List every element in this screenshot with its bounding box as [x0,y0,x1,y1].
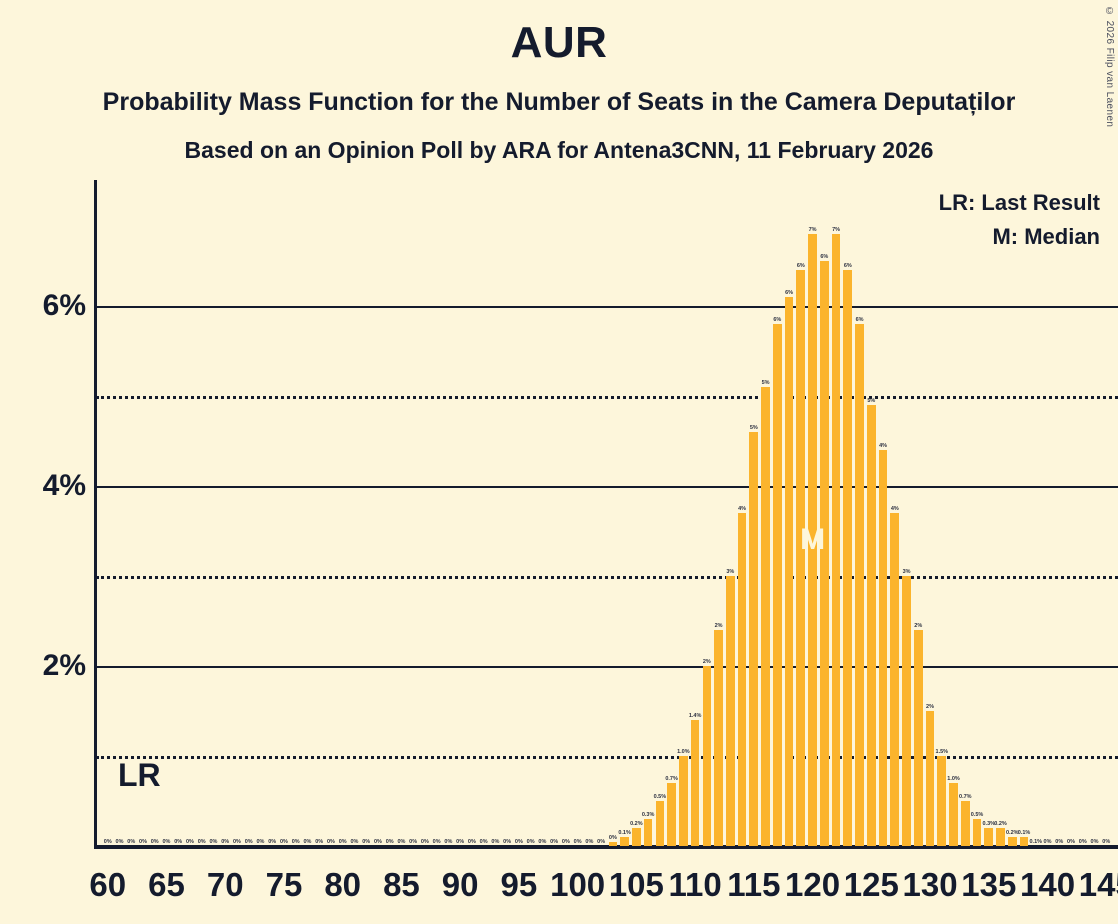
bar: 0.7% [667,783,676,846]
bar-value-label: 0% [127,839,135,845]
x-axis-tick-label: 100 [550,866,605,904]
bar-value-label: 0% [104,839,112,845]
bar-value-label: 0% [374,839,382,845]
bar: 0.2% [996,828,1005,846]
bar-value-label: 0% [550,839,558,845]
bar: 1.5% [937,756,946,846]
bar-value-label: 0% [233,839,241,845]
bar-value-label: 2% [914,623,922,629]
bar-value-label: 0% [386,839,394,845]
bar: 0.1% [620,837,629,846]
x-axis-tick-label: 110 [668,866,721,904]
bar-value-label: 0.5% [654,794,667,800]
bar: 6% [796,270,805,846]
y-axis-tick-label: 2% [43,649,86,683]
x-axis-tick-label: 115 [727,866,780,904]
bar-value-label: 2% [926,704,934,710]
bar-value-label: 0% [280,839,288,845]
bar-value-label: 0% [245,839,253,845]
bar: 2% [926,711,935,846]
bar-value-label: 4% [891,506,899,512]
bar-value-label: 0.1% [1018,830,1031,836]
bar-value-label: 0% [339,839,347,845]
bar-value-label: 0.3% [982,821,995,827]
bar-value-label: 0% [221,839,229,845]
bar-value-label: 3% [726,569,734,575]
bar: 4% [890,513,899,846]
x-axis-tick-label: 85 [383,866,420,904]
bar-value-label: 3% [903,569,911,575]
bar: 6% [855,324,864,846]
bar: 0.1% [1020,837,1029,846]
bar-value-label: 2% [703,659,711,665]
bar-value-label: 6% [785,290,793,296]
bar-value-label: 4% [879,443,887,449]
bar: 1.0% [679,756,688,846]
bar-value-label: 0% [292,839,300,845]
x-axis-tick-label: 95 [501,866,538,904]
bar: 0.2% [632,828,641,846]
chart-source-line: Based on an Opinion Poll by ARA for Ante… [0,137,1118,164]
bar: 5% [749,432,758,846]
bar-value-label: 0% [315,839,323,845]
y-axis-labels: 2%4%6% [0,180,96,846]
bar-value-label: 0% [444,839,452,845]
bar-value-label: 0% [491,839,499,845]
x-axis-tick-label: 80 [324,866,361,904]
bar-value-label: 6% [844,263,852,269]
bar-value-label: 0.7% [665,776,678,782]
bar-value-label: 0.7% [959,794,972,800]
bar: 0.3% [984,828,993,846]
x-axis-tick-label: 135 [961,866,1016,904]
bar-value-label: 0% [116,839,124,845]
bar-value-label: 0% [1067,839,1075,845]
y-axis-tick-label: 4% [43,469,86,503]
bar-value-label: 0% [256,839,264,845]
bar-value-label: 1.0% [677,749,690,755]
bar-value-label: 0% [209,839,217,845]
x-axis-tick-label: 125 [844,866,899,904]
bar-value-label: 5% [762,380,770,386]
bar-value-label: 0% [574,839,582,845]
bar: 0.7% [961,801,970,846]
bar-value-label: 0% [362,839,370,845]
bar: 6% [785,297,794,846]
bar: 3% [726,576,735,846]
bar-value-label: 7% [832,227,840,233]
x-axis-tick-label: 60 [89,866,126,904]
bar-value-label: 0% [174,839,182,845]
bar: 0.5% [973,819,982,846]
copyright-notice: © 2026 Filip van Laenen [1104,6,1115,127]
bar-value-label: 6% [773,317,781,323]
bar: 1.4% [691,720,700,846]
bar-value-label: 1.5% [936,749,949,755]
bar-value-label: 0% [1079,839,1087,845]
bar-value-label: 7% [809,227,817,233]
bar: 0% [609,842,618,847]
bar-value-label: 0% [597,839,605,845]
bar-value-label: 0% [186,839,194,845]
bar-value-label: 0% [1044,839,1052,845]
bar-value-label: 0.1% [1029,839,1042,845]
bar-value-label: 0% [538,839,546,845]
bar: 4% [879,450,888,846]
bar-value-label: 0.2% [1006,830,1019,836]
bar: 0.3% [644,819,653,846]
bar-value-label: 0% [468,839,476,845]
plot-area: 0%0%0%0%0%0%0%0%0%0%0%0%0%0%0%0%0%0%0%0%… [96,180,1118,846]
bar-value-label: 0% [350,839,358,845]
bar: 2% [703,666,712,846]
bar-value-label: 0% [609,835,617,841]
bar-value-label: 4% [738,506,746,512]
bar: 5% [867,405,876,846]
bar-value-label: 6% [820,254,828,260]
bar-value-label: 0% [151,839,159,845]
bar-value-label: 0% [456,839,464,845]
bar-value-label: 0% [139,839,147,845]
bar-value-label: 0% [515,839,523,845]
bar-value-label: 0% [1055,839,1063,845]
chart-subtitle: Probability Mass Function for the Number… [0,88,1118,117]
y-axis-tick-label: 6% [43,289,86,323]
bar: 1.0% [949,783,958,846]
bar-value-label: 0.2% [994,821,1007,827]
page-title: AUR [0,18,1118,68]
bar-value-label: 0% [527,839,535,845]
bar: 0.2% [1008,837,1017,846]
bar: 4% [738,513,747,846]
x-axis-tick-label: 130 [903,866,958,904]
bar-value-label: 0% [162,839,170,845]
bar: 2% [914,630,923,846]
bar: 0.5% [656,801,665,846]
bar-value-label: 0% [1102,839,1110,845]
bar-value-label: 5% [750,425,758,431]
bar-value-label: 1.0% [947,776,960,782]
bar: 5% [761,387,770,846]
x-axis-tick-label: 105 [609,866,664,904]
bar-value-label: 0.3% [642,812,655,818]
bar-value-label: 0% [1091,839,1099,845]
bar: 6% [773,324,782,846]
bar: 3% [902,576,911,846]
x-axis-tick-label: 65 [148,866,185,904]
x-axis-tick-label: 75 [266,866,303,904]
bar-value-label: 0% [433,839,441,845]
bar-value-label: 0% [480,839,488,845]
bar-value-label: 2% [715,623,723,629]
bar-value-label: 6% [856,317,864,323]
bar-value-label: 0.2% [630,821,643,827]
bar-value-label: 1.4% [689,713,702,719]
x-axis-tick-label: 90 [442,866,479,904]
bar-value-label: 0% [409,839,417,845]
bar: 6% [843,270,852,846]
bar-value-label: 0% [198,839,206,845]
median-marker: M [800,525,825,555]
x-axis-tick-label: 140 [1020,866,1075,904]
bar-value-label: 0% [327,839,335,845]
bar: 2% [714,630,723,846]
bar-value-label: 0.1% [618,830,631,836]
bar-value-label: 0% [268,839,276,845]
bar-value-label: 6% [797,263,805,269]
bar-value-label: 0% [503,839,511,845]
bar-value-label: 0.5% [971,812,984,818]
x-axis-tick-label: 70 [207,866,244,904]
bar-value-label: 0% [562,839,570,845]
x-axis-tick-label: 120 [785,866,840,904]
bar-series: 0%0%0%0%0%0%0%0%0%0%0%0%0%0%0%0%0%0%0%0%… [96,180,1118,846]
bar-value-label: 0% [397,839,405,845]
bar-value-label: 5% [867,398,875,404]
bar-value-label: 0% [585,839,593,845]
bar-value-label: 0% [421,839,429,845]
bar: 7% [832,234,841,846]
bar-value-label: 0% [303,839,311,845]
last-result-marker: LR [118,757,161,794]
x-axis-labels: 6065707580859095100105110115120125130135… [0,866,1118,924]
x-axis-tick-label: 145 [1079,866,1118,904]
chart-page: AUR Probability Mass Function for the Nu… [0,0,1118,924]
